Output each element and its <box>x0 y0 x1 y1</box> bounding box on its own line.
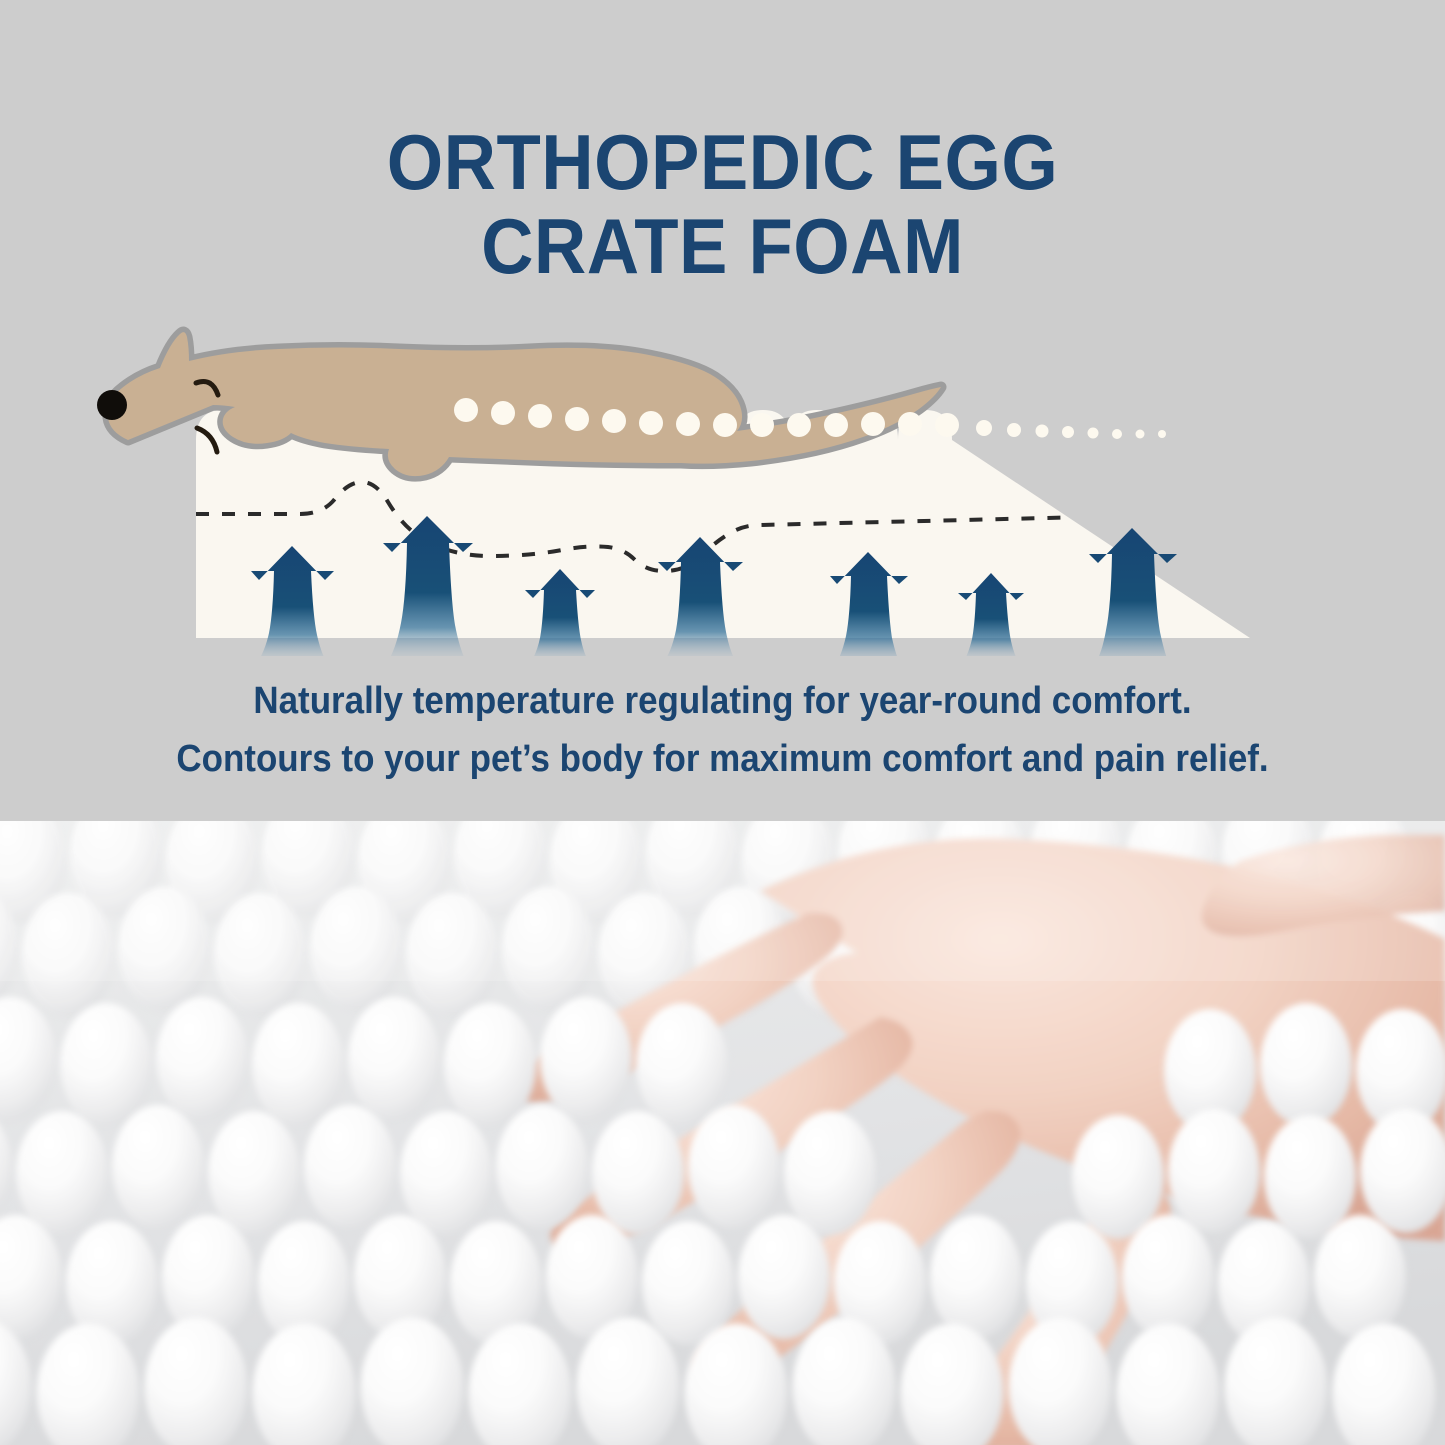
foam-peaks-front <box>0 997 1445 1445</box>
illustration-scene <box>0 288 1445 656</box>
photo-haze <box>0 821 1445 981</box>
dog-nose-icon <box>97 390 127 420</box>
caption-line-1: Naturally temperature regulating for yea… <box>58 672 1387 730</box>
page-title: ORTHOPEDIC EGG CRATE FOAM <box>51 120 1395 288</box>
info-panel: ORTHOPEDIC EGG CRATE FOAM <box>0 0 1445 821</box>
caption-block: Naturally temperature regulating for yea… <box>58 672 1387 788</box>
foam-photo <box>0 821 1445 1445</box>
caption-line-2: Contours to your pet’s body for maximum … <box>58 730 1387 788</box>
product-infographic: ORTHOPEDIC EGG CRATE FOAM <box>0 0 1445 1445</box>
